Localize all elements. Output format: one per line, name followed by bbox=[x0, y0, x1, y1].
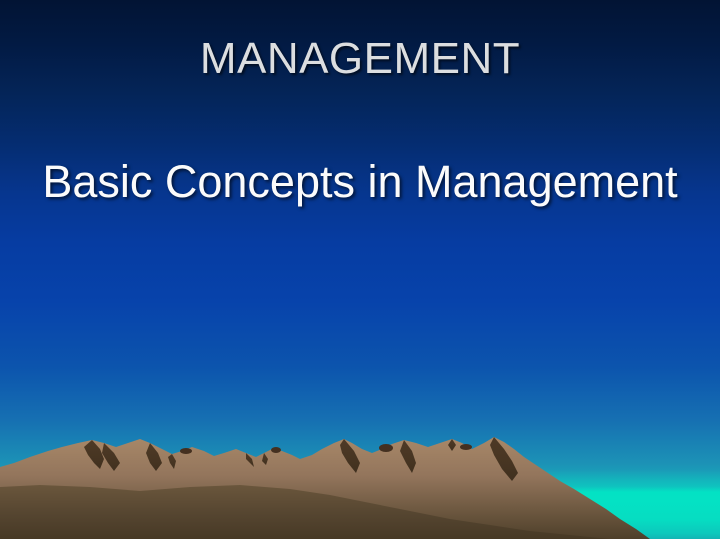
slide-subtitle: Basic Concepts in Management bbox=[0, 154, 720, 210]
rock-notch-2 bbox=[271, 447, 281, 453]
rock-notch-3 bbox=[379, 444, 393, 452]
presentation-slide: MANAGEMENT Basic Concepts in Management bbox=[0, 0, 720, 539]
mountain-range-graphic bbox=[0, 429, 720, 539]
rock-notch-1 bbox=[180, 448, 192, 454]
slide-title: MANAGEMENT bbox=[0, 33, 720, 85]
rock-notch-4 bbox=[460, 444, 472, 450]
